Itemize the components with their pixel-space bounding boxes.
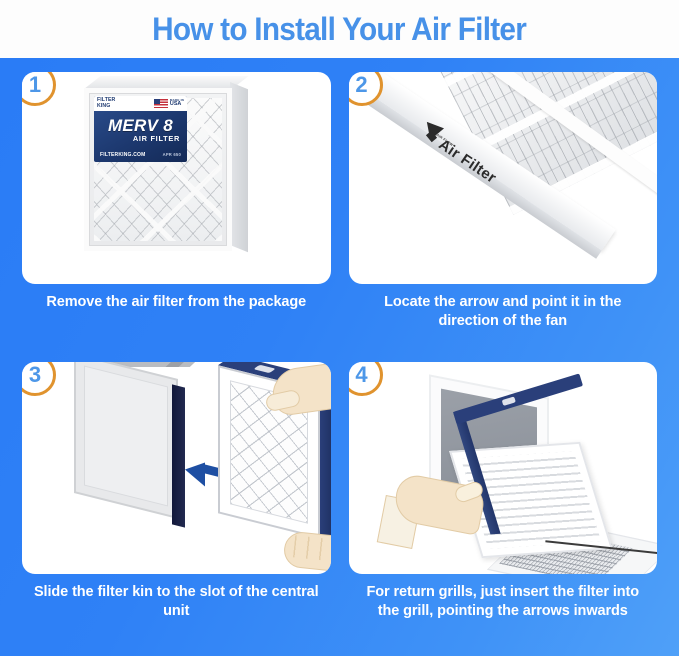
step-2-number: 2 xyxy=(355,74,367,96)
step-4-caption: For return grills, just insert the filte… xyxy=(349,583,658,622)
merv-rating-text: MERV 8 xyxy=(94,116,187,136)
filter-product-label: FILTER KING MADE IN USA xyxy=(94,96,187,162)
steps-grid: FILTER KING MADE IN USA xyxy=(0,58,679,656)
air-filter-subtitle: AIR FILTER xyxy=(133,134,180,143)
made-in-usa-text: MADE IN USA xyxy=(170,99,184,107)
apr-rating-text: APR 650 xyxy=(163,152,181,158)
usa-flag-icon xyxy=(154,99,168,108)
air-filter-product-photo: FILTER KING MADE IN USA xyxy=(80,82,250,257)
central-unit-filter-slot xyxy=(172,384,185,527)
step-3-illustration xyxy=(22,362,331,574)
label-header-strip: FILTER KING MADE IN USA xyxy=(94,96,187,111)
step-4-card: 4 xyxy=(349,362,658,574)
step-1-card: FILTER KING MADE IN USA xyxy=(22,72,331,284)
step-2-illustration: AIR FLOW Air Filter xyxy=(349,72,658,284)
made-in-usa-badge: MADE IN USA xyxy=(154,99,184,108)
page-title: How to Install Your Air Filter xyxy=(153,11,527,48)
central-unit-inner-panel xyxy=(84,366,168,507)
infographic-root: How to Install Your Air Filter xyxy=(0,0,679,656)
step-4-number: 4 xyxy=(355,364,367,386)
filter-king-logo: FILTER KING xyxy=(97,98,115,109)
step-1-number: 1 xyxy=(29,74,41,96)
step-3-card: 3 xyxy=(22,362,331,574)
step-3-caption: Slide the filter kin to the slot of the … xyxy=(22,583,331,622)
step-1-illustration: FILTER KING MADE IN USA xyxy=(22,72,331,284)
step-1: FILTER KING MADE IN USA xyxy=(22,72,331,358)
step-4-illustration xyxy=(349,362,658,574)
step-2: AIR FLOW Air Filter 2 Locate the arrow a… xyxy=(349,72,658,358)
step-3-number: 3 xyxy=(29,364,41,386)
central-unit-face xyxy=(74,362,178,519)
step-2-caption: Locate the arrow and point it in the dir… xyxy=(349,293,658,332)
slide-direction-arrow-head xyxy=(185,458,205,487)
website-text: FILTERKING.COM xyxy=(100,152,145,158)
filter-arrow-marking xyxy=(501,396,515,406)
step-4: 4 For return grills, just insert the fil… xyxy=(349,362,658,648)
filter-arrow-marking xyxy=(253,365,275,373)
step-2-card: AIR FLOW Air Filter 2 xyxy=(349,72,658,284)
title-bar: How to Install Your Air Filter xyxy=(0,0,679,58)
step-3: 3 Slide the filter kin to the slot of th… xyxy=(22,362,331,648)
filter-side-edge xyxy=(230,82,248,252)
label-footer-strip: FILTERKING.COM APR 650 xyxy=(94,152,187,158)
step-1-caption: Remove the air filter from the package xyxy=(22,293,331,312)
